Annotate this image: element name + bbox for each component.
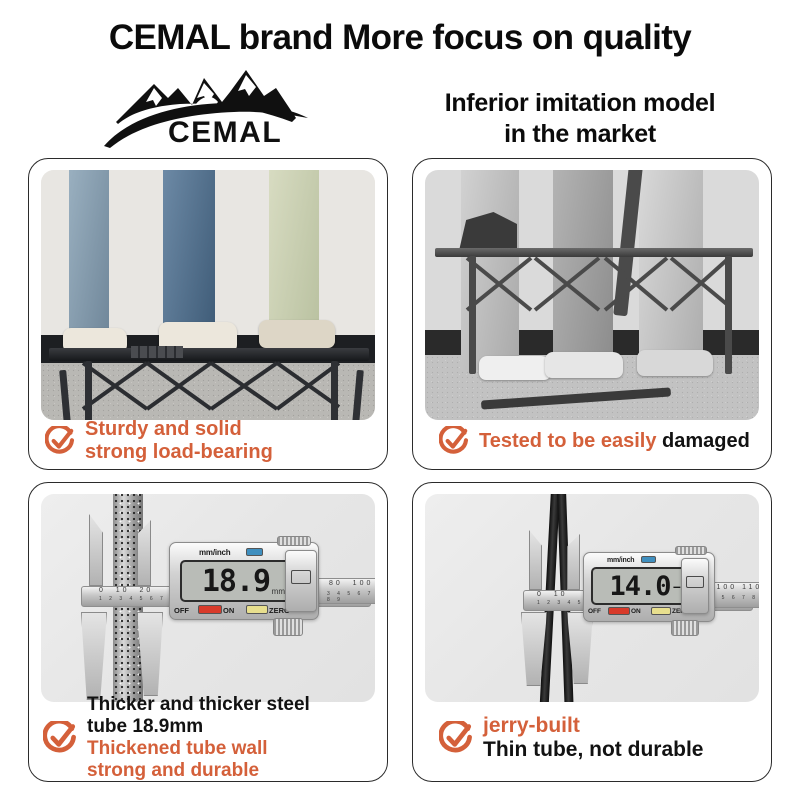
- caliper-off-label: OFF: [588, 608, 601, 615]
- right-heading-line-1: Inferior imitation model: [445, 89, 716, 117]
- caption-line-1-tail: damaged: [662, 430, 750, 452]
- panel-top-right: Tested to be easily damaged: [412, 158, 772, 470]
- caption-line-1: Tested to be easily: [479, 430, 662, 452]
- panel-bottom-left: 0 10 20 1 2 3 4 5 6 7 80 100 1 3 4 5 6 7…: [28, 482, 388, 782]
- header: CEMAL brand More focus on quality CEMAL …: [0, 0, 800, 152]
- page-title: CEMAL brand More focus on quality: [0, 18, 800, 58]
- caption-line-1: jerry-built: [483, 714, 703, 738]
- caliper-lock-wheel[interactable]: [675, 546, 707, 555]
- orange-check-circle-icon: [439, 721, 473, 755]
- caption-bottom-left: Thicker and thicker steel tube 18.9mm Th…: [29, 701, 387, 781]
- caliper-reading: 18.9: [202, 564, 270, 599]
- infographic-page: CEMAL brand More focus on quality CEMAL …: [0, 0, 800, 800]
- caliper-lock-wheel[interactable]: [277, 536, 311, 546]
- photo-broken-imitation-table: [425, 170, 759, 420]
- panel-top-left: Sturdy and solid strong load-bearing: [28, 158, 388, 470]
- caliper-mode-label: mm/inch: [199, 548, 231, 557]
- caption-line-4: strong and durable: [87, 760, 310, 782]
- right-heading-line-2: in the market: [400, 119, 760, 150]
- caliper-thumb-roller[interactable]: [273, 618, 303, 636]
- caption-text: Sturdy and solid strong load-bearing: [85, 418, 273, 464]
- orange-check-circle-icon: [43, 721, 77, 755]
- caliper-mode-label: mm/inch: [607, 557, 634, 564]
- caliper-zero-button[interactable]: [246, 605, 268, 614]
- caliper-thumb-roller[interactable]: [671, 620, 699, 636]
- logo-wordmark: CEMAL: [168, 116, 282, 150]
- orange-check-circle-icon: [439, 426, 469, 456]
- caliper-on-label: ON: [631, 608, 641, 615]
- caption-top-right: Tested to be easily damaged: [413, 419, 771, 469]
- caliper-reading: 14.0: [609, 571, 670, 602]
- caption-line-2: tube 18.9mm: [87, 716, 310, 738]
- caption-line-3: Thickened tube wall: [87, 738, 310, 760]
- caption-top-left: Sturdy and solid strong load-bearing: [29, 419, 387, 469]
- photo-caliper-thin-tube: 0 10 1 2 3 4 5 0 90 100 110 120 1 2 3 4 …: [425, 494, 759, 702]
- caption-text: jerry-built Thin tube, not durable: [483, 714, 703, 763]
- caliper-on-button[interactable]: [608, 607, 630, 615]
- caliper-off-label: OFF: [174, 606, 189, 615]
- caliper-on-button[interactable]: [198, 605, 222, 614]
- mm-inch-swatch[interactable]: [641, 556, 656, 563]
- mm-inch-swatch[interactable]: [246, 548, 263, 556]
- caliper-zero-button[interactable]: [651, 607, 671, 615]
- caliper-unit: mm: [272, 587, 285, 596]
- photo-sturdy-table: [41, 170, 375, 420]
- caption-line-1: Sturdy and solid: [85, 418, 273, 441]
- caliper-lcd: 18.9 mm: [180, 560, 292, 602]
- caption-line-2: strong load-bearing: [85, 441, 273, 464]
- caption-line-2: Thin tube, not durable: [483, 738, 703, 762]
- caption-line-1: Thicker and thicker steel: [87, 694, 310, 716]
- right-column-heading: Inferior imitation model in the market: [400, 88, 760, 149]
- brand-logo: CEMAL: [96, 58, 316, 150]
- orange-check-circle-icon: [45, 426, 75, 456]
- caption-text: Thicker and thicker steel tube 18.9mm Th…: [87, 694, 310, 782]
- caption-text: Tested to be easily damaged: [479, 430, 750, 453]
- photo-caliper-thick-tube: 0 10 20 1 2 3 4 5 6 7 80 100 1 3 4 5 6 7…: [41, 494, 375, 702]
- panel-bottom-right: 0 10 1 2 3 4 5 0 90 100 110 120 1 2 3 4 …: [412, 482, 772, 782]
- caliper-on-label: ON: [223, 606, 234, 615]
- caption-bottom-right: jerry-built Thin tube, not durable: [413, 701, 771, 781]
